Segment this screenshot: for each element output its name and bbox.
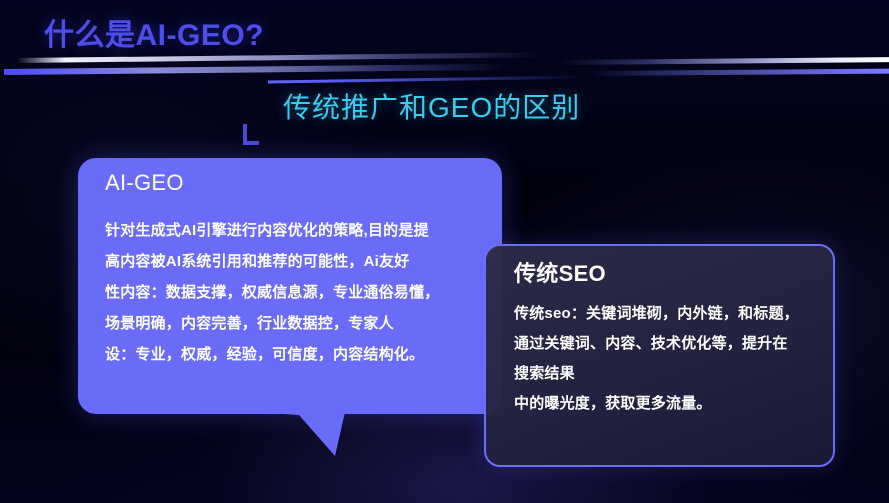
traditional-seo-line: 搜索结果 (514, 359, 819, 389)
traditional-seo-card: 传统SEO 传统seo：关键词堆砌，内外链，和标题， 通过关键词、内容、技术优化… (484, 244, 835, 467)
decorative-rule-left-bottom (4, 64, 509, 75)
ai-geo-line: 性内容：数据支撑，权威信息源，专业通俗易懂， (105, 277, 484, 308)
ai-geo-line: 场景明确，内容完善，行业数据控，专家人 (105, 308, 484, 339)
slide-canvas: 什么是AI-GEO? 传统推广和GEO的区别 AI-GEO 针对生成式AI引擎进… (0, 0, 889, 503)
ai-geo-card-body: 针对生成式AI引擎进行内容优化的策略,目的是提 高内容被AI系统引用和推荐的可能… (105, 215, 484, 370)
section-subtitle: 传统推广和GEO的区别 (283, 86, 580, 126)
ai-geo-card-tail-icon (255, 412, 345, 460)
traditional-seo-line: 中的曝光度，获取更多流量。 (514, 389, 819, 419)
page-title: 什么是AI-GEO? (44, 10, 264, 54)
traditional-seo-card-title: 传统SEO (514, 256, 606, 288)
decorative-rule-right-bottom (589, 69, 889, 76)
ai-geo-line: 设：专业，权威，经验，可信度，内容结构化。 (105, 339, 484, 370)
corner-bracket-icon (243, 124, 259, 145)
decorative-rule-subtitle (268, 76, 586, 84)
ai-geo-line: 针对生成式AI引擎进行内容优化的策略,目的是提 (105, 215, 484, 246)
ai-geo-card-title: AI-GEO (105, 170, 184, 196)
decorative-rule-right-top (559, 57, 889, 65)
ai-geo-card: AI-GEO 针对生成式AI引擎进行内容优化的策略,目的是提 高内容被AI系统引… (78, 158, 502, 414)
traditional-seo-line: 传统seo：关键词堆砌，内外链，和标题， (514, 299, 819, 329)
ai-geo-line: 高内容被AI系统引用和推荐的可能性，Ai友好 (105, 246, 484, 277)
traditional-seo-card-body: 传统seo：关键词堆砌，内外链，和标题， 通过关键词、内容、技术优化等，提升在 … (514, 299, 819, 419)
traditional-seo-line: 通过关键词、内容、技术优化等，提升在 (514, 329, 819, 359)
